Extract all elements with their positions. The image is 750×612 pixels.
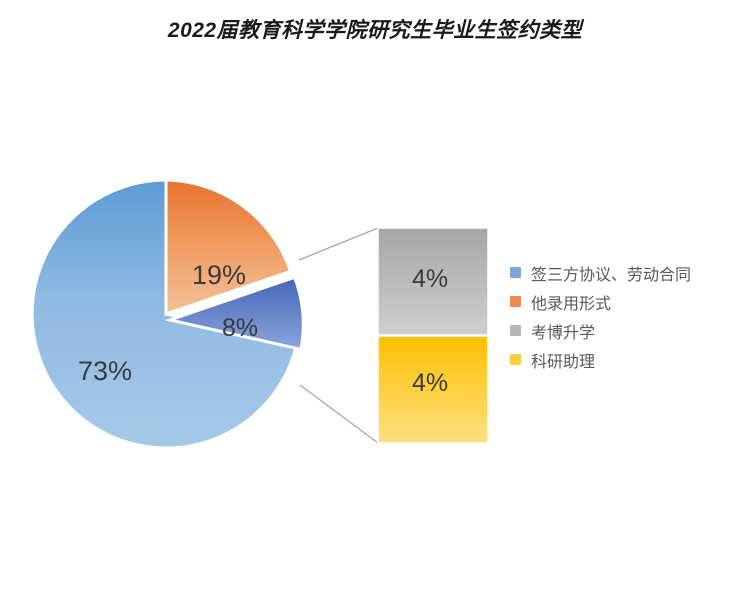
legend-swatch-icon-research-assistant — [510, 354, 521, 365]
legend-swatch-icon-contract — [510, 267, 521, 278]
bar-segment-research-assistant[interactable] — [378, 336, 488, 443]
legend-item-research-assistant[interactable]: 科研助理 — [510, 345, 742, 374]
connector-line-bottom — [300, 385, 378, 443]
legend-swatch-icon-further-study — [510, 325, 521, 336]
connector-line-top — [299, 228, 378, 260]
legend-label-research-assistant: 科研助理 — [531, 348, 595, 372]
pie-of-pie-chart: 2022届教育科学学院研究生毕业生签约类型 — [0, 0, 750, 612]
bar-segment-further-study[interactable] — [378, 228, 488, 335]
primary-pie — [32, 180, 303, 448]
legend-item-further-study[interactable]: 考博升学 — [510, 316, 742, 345]
legend-label-other-employment: 他录用形式 — [531, 290, 611, 314]
legend-label-further-study: 考博升学 — [531, 319, 595, 343]
secondary-stacked-bar — [378, 228, 488, 443]
legend-item-other-employment[interactable]: 他录用形式 — [510, 287, 742, 316]
legend-swatch-icon-other-employment — [510, 296, 521, 307]
connector-lines — [299, 228, 378, 443]
legend-item-contract[interactable]: 签三方协议、劳动合同 — [510, 258, 742, 287]
legend-label-contract: 签三方协议、劳动合同 — [531, 261, 691, 285]
chart-legend: 签三方协议、劳动合同 他录用形式 考博升学 科研助理 — [510, 258, 742, 374]
